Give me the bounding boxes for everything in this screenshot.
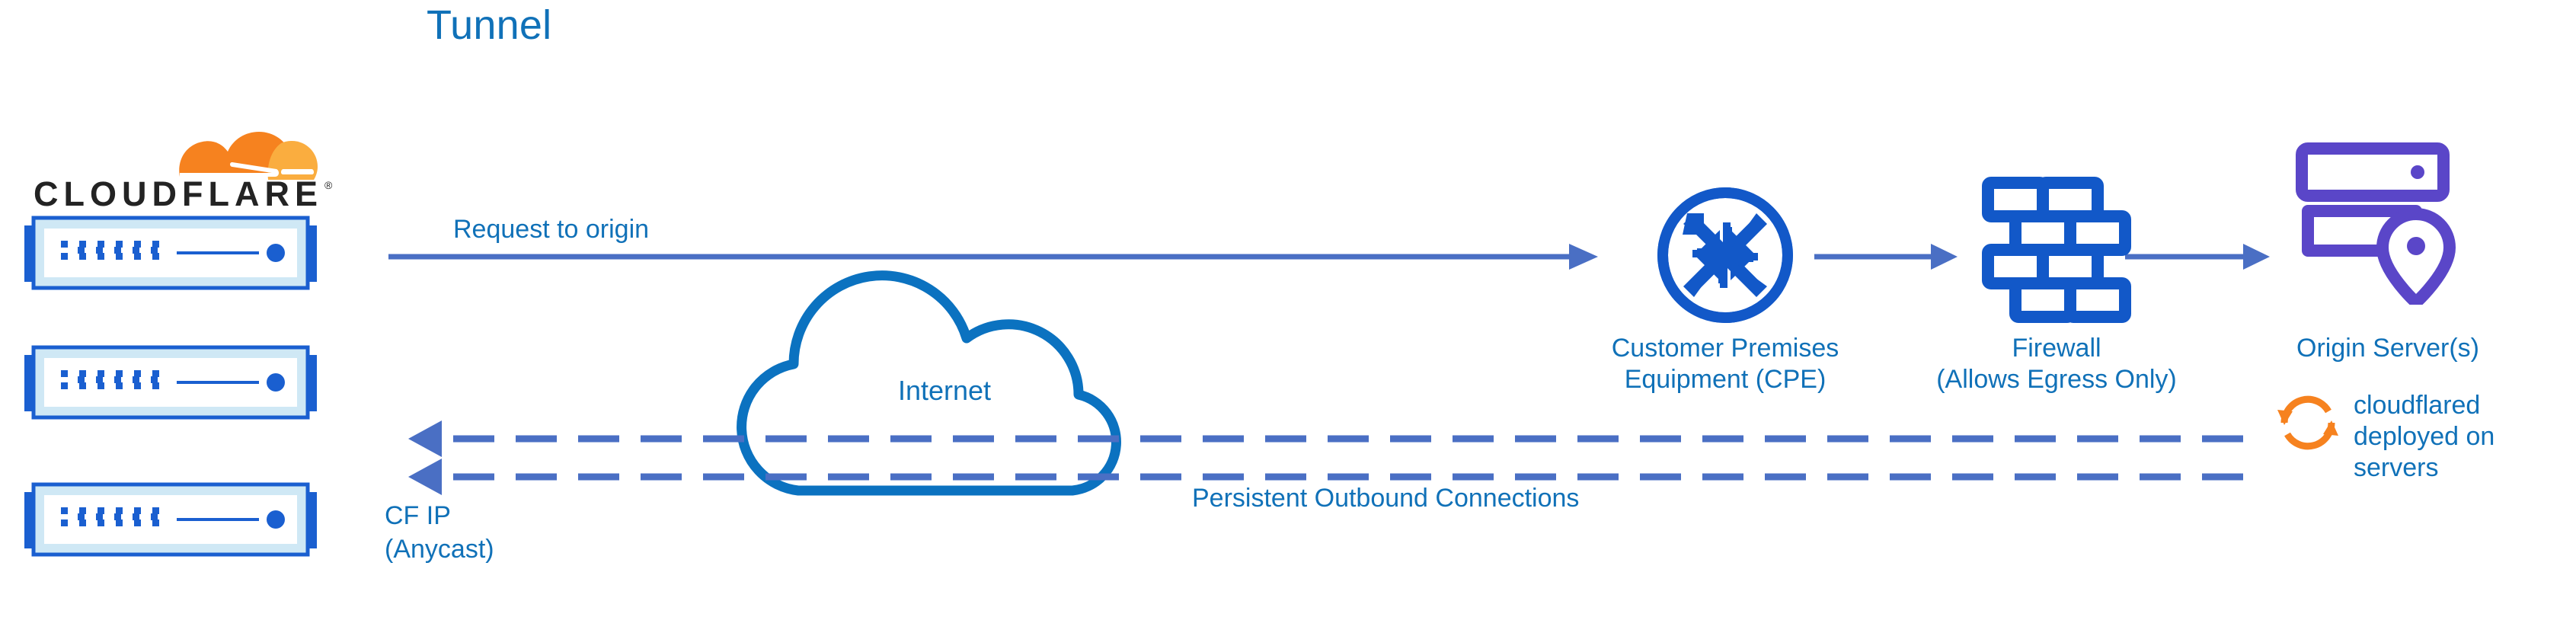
sync-refresh-icon — [2274, 388, 2342, 457]
persistent-connection-arrow-upper — [408, 420, 2243, 457]
persistent-outbound-connections-label: Persistent Outbound Connections — [1192, 484, 1579, 513]
firewall-to-origin-arrow — [2125, 244, 2270, 270]
origin-server-label: Origin Server(s) — [2243, 333, 2533, 364]
tunnel-architecture-diagram: Tunnel CLOUDFLARE ® — [0, 0, 2576, 617]
cf-ip-anycast-label: CF IP (Anycast) — [385, 499, 494, 566]
cpe-label: Customer Premises Equipment (CPE) — [1520, 333, 1931, 395]
router-circle-icon — [1653, 183, 1798, 328]
request-to-origin-label: Request to origin — [453, 215, 649, 245]
request-arrow — [388, 244, 1598, 270]
server-location-pin-icon — [2293, 141, 2468, 305]
internet-cloud-label: Internet — [792, 375, 1097, 407]
firewall-label: Firewall (Allows Egress Only) — [1870, 333, 2243, 395]
cpe-to-firewall-arrow — [1814, 244, 1958, 270]
cloudflared-label: cloudflared deployed on servers — [2354, 390, 2559, 484]
brick-wall-icon — [1980, 175, 2133, 328]
